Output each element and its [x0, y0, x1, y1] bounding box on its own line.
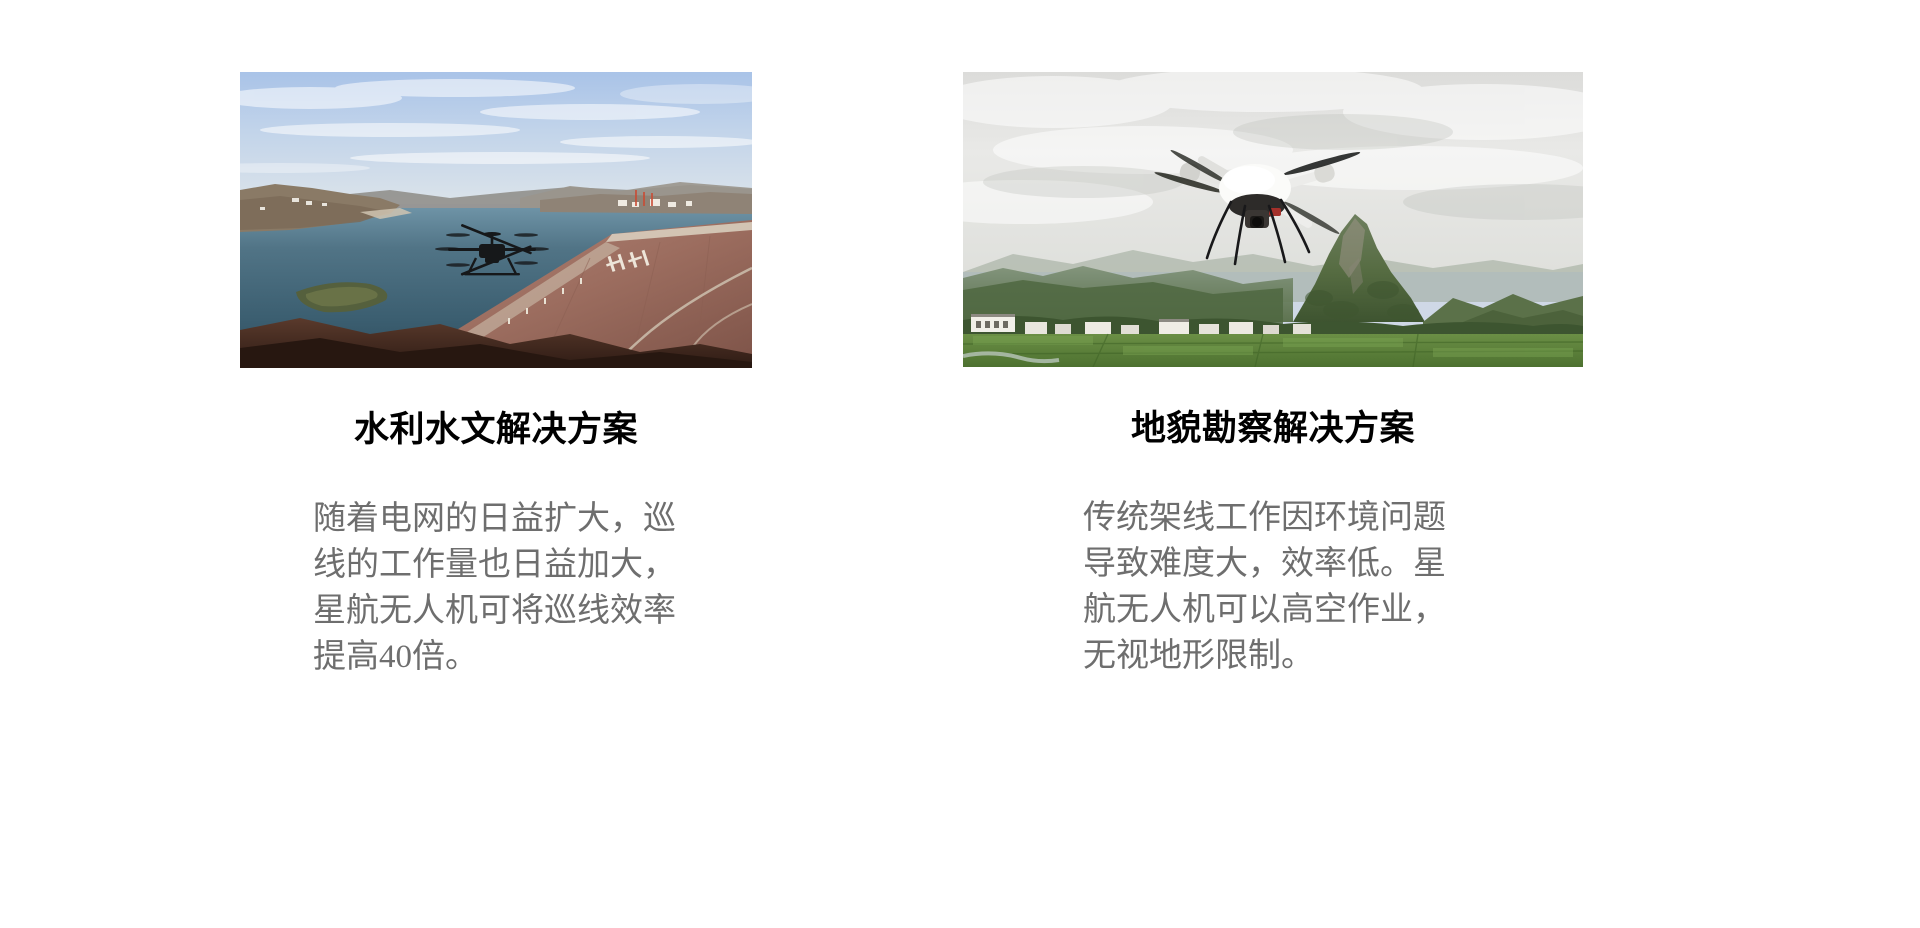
- body-line: 星航无人机可将巡线效率: [313, 588, 683, 634]
- body-line: 随着电网的日益扩大，巡: [313, 496, 683, 542]
- body-line: 航无人机可以高空作业，: [1083, 587, 1455, 633]
- solutions-showcase-page: 水利水文解决方案 随着电网的日益扩大，巡 线的工作量也日益加大， 星航无人机可将…: [0, 0, 1920, 928]
- solution-card-terrain-survey: 地貌勘察解决方案 传统架线工作因环境问题 导致难度大，效率低。星 航无人机可以高…: [963, 72, 1583, 679]
- body-line: 提高40倍。: [313, 634, 683, 680]
- body-line: 导致难度大，效率低。星: [1083, 541, 1455, 587]
- solution-card-water-conservancy: 水利水文解决方案 随着电网的日益扩大，巡 线的工作量也日益加大， 星航无人机可将…: [240, 72, 752, 680]
- card-body-terrain-survey: 传统架线工作因环境问题 导致难度大，效率低。星 航无人机可以高空作业， 无视地形…: [1083, 495, 1455, 679]
- body-line: 线的工作量也日益加大，: [313, 542, 683, 588]
- card-title-water-conservancy: 水利水文解决方案: [240, 411, 752, 450]
- body-line: 无视地形限制。: [1083, 633, 1455, 679]
- card-body-water-conservancy: 随着电网的日益扩大，巡 线的工作量也日益加大， 星航无人机可将巡线效率 提高40…: [313, 496, 683, 680]
- body-line: 传统架线工作因环境问题: [1083, 495, 1455, 541]
- reservoir-dam-drone-photo: [240, 72, 752, 368]
- karst-mountain-drone-photo: [963, 72, 1583, 367]
- card-title-terrain-survey: 地貌勘察解决方案: [963, 410, 1583, 449]
